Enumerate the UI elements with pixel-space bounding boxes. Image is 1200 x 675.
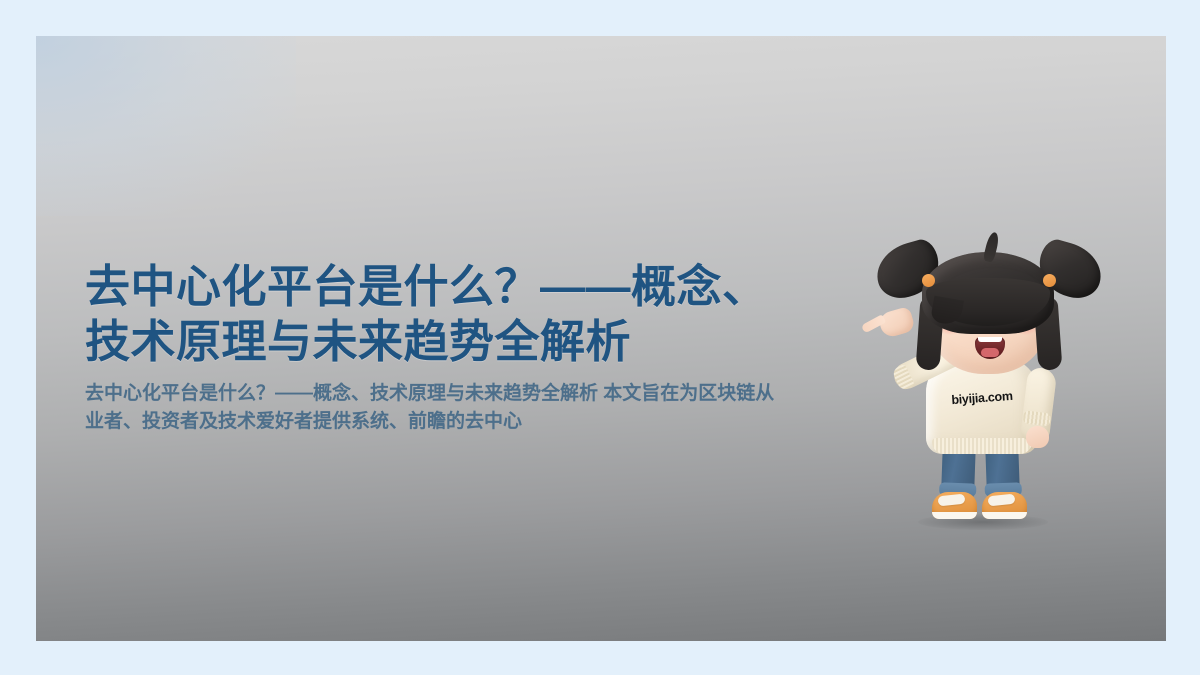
- mascot-right-sleeve-cuff: [1023, 410, 1051, 426]
- mascot-tongue: [981, 348, 999, 357]
- mascot-sweater-hem: [932, 438, 1032, 454]
- mascot-index-finger: [861, 314, 886, 333]
- mascot-left-shoe-laces: [938, 494, 966, 507]
- page-title: 去中心化平台是什么？——概念、技术原理与未来趋势全解析: [85, 260, 785, 370]
- mascot-pointing-hand: [877, 306, 916, 339]
- mascot-right-shoe-sole: [982, 512, 1027, 519]
- mascot-right-shoe-laces: [988, 494, 1016, 507]
- slide-corner-sheen: [36, 36, 296, 216]
- slide-page: 去中心化平台是什么？——概念、技术原理与未来趋势全解析 去中心化平台是什么？——…: [0, 0, 1200, 675]
- mascot-character-illustration: biyijia.com: [874, 186, 1104, 526]
- mascot-right-hand: [1026, 426, 1049, 448]
- slide-subtitle: 去中心化平台是什么？——概念、技术原理与未来趋势全解析 本文旨在为区块链从业者、…: [85, 380, 781, 437]
- mascot-right-shoe: [982, 492, 1027, 519]
- mascot-left-shoe-sole: [932, 512, 977, 519]
- slide-text-block: 去中心化平台是什么？——概念、技术原理与未来趋势全解析 去中心化平台是什么？——…: [85, 260, 785, 437]
- mascot-right-hair-tie: [1043, 274, 1056, 287]
- presentation-slide: 去中心化平台是什么？——概念、技术原理与未来趋势全解析 去中心化平台是什么？——…: [36, 36, 1166, 641]
- mascot-left-hair-tie: [922, 274, 935, 287]
- mascot-left-shoe: [932, 492, 977, 519]
- sweater-logo-text: biyijia.com: [940, 388, 1025, 408]
- mascot-teeth: [978, 337, 1002, 342]
- mascot-smiling-mouth: [975, 337, 1005, 359]
- mascot-left-sleeve-cuff: [891, 364, 915, 392]
